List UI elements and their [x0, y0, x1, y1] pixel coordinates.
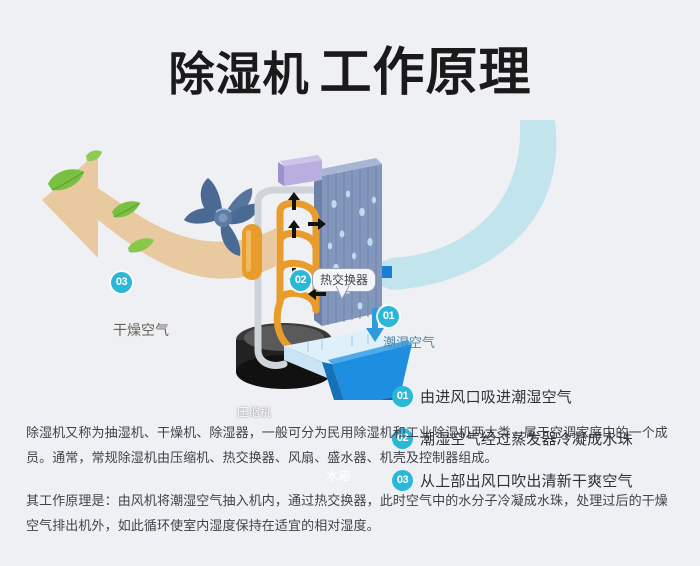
step-text-1: 由进风口吸进潮湿空气 [420, 386, 572, 407]
diagram-badge-dry-air: 03 [111, 272, 132, 293]
step-item-1: 01 由进风口吸进潮湿空气 [392, 375, 682, 417]
step-badge-1: 01 [392, 386, 413, 407]
body-copy: 除湿机又称为抽湿机、干燥机、除湿器，一般可分为民用除湿机和工业除湿机两大类，属于… [26, 420, 676, 538]
diagram-badge-humid-air: 01 [378, 306, 399, 327]
paragraph-1: 除湿机又称为抽湿机、干燥机、除湿器，一般可分为民用除湿机和工业除湿机两大类，属于… [26, 420, 676, 470]
title-part-1: 除湿机 [168, 48, 309, 100]
infographic-page: 除湿机工作原理 [0, 0, 700, 566]
fan-icon [178, 172, 268, 264]
diagram-label-compressor: 压缩机 [237, 404, 272, 420]
callout-tail-icon [336, 286, 350, 300]
dehumidifier-diagram: 03 干燥空气 02 热交换器 01 潮湿空气 压缩机 水箱 01 由进风口吸进… [0, 120, 700, 400]
diagram-badge-heat-exchanger: 02 [290, 270, 311, 291]
title-part-2: 工作原理 [319, 44, 531, 102]
diagram-label-humid-air: 潮湿空气 [383, 332, 435, 351]
page-title: 除湿机工作原理 [0, 30, 700, 105]
diagram-label-dry-air: 干燥空气 [113, 320, 169, 340]
paragraph-2: 其工作原理是：由风机将潮湿空气抽入机内，通过热交换器，此时空气中的水分子冷凝成水… [26, 488, 676, 538]
humid-air-swoosh-icon [330, 120, 670, 310]
leaf-icons [40, 140, 190, 260]
